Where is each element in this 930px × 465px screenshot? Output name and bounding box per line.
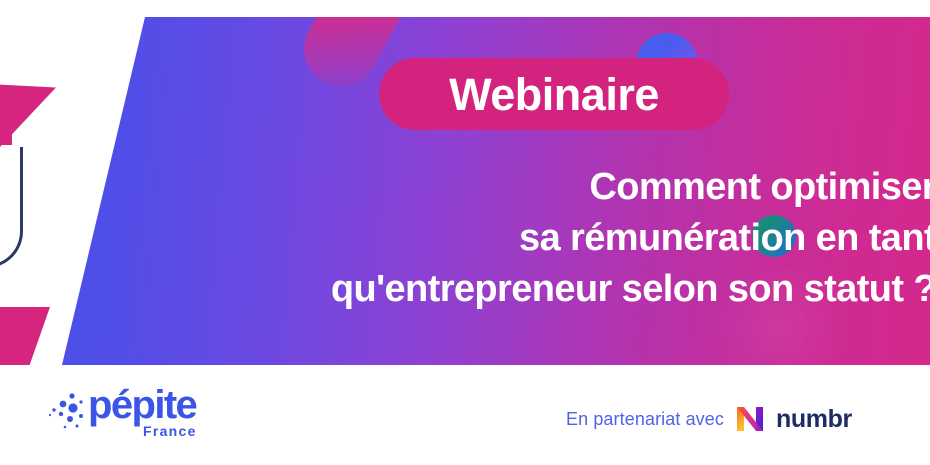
headline: Comment optimiser sa rémunération en tan… <box>60 168 930 308</box>
numbr-n-icon <box>734 403 766 435</box>
pepite-france-logo: pépite France <box>48 387 268 449</box>
character-face-outline <box>0 147 23 268</box>
pepite-subtitle: France <box>143 424 197 438</box>
headline-line-1: Comment optimiser <box>60 168 930 206</box>
numbr-wordmark: numbr <box>776 407 852 432</box>
webinaire-badge-label: Webinaire <box>449 72 659 117</box>
headline-line-3: qu'entrepreneur selon son statut ? <box>60 270 930 308</box>
banner-footer: pépite France En partenariat avec <box>0 365 930 465</box>
pepite-wordmark: pépite <box>88 385 196 425</box>
webinaire-badge: Webinaire <box>379 58 729 130</box>
character-hair-shape <box>0 83 56 166</box>
webinar-banner: Webinaire Comment optimiser sa rémunérat… <box>0 0 930 465</box>
partnership-block: En partenariat avec <box>566 399 852 439</box>
headline-line-2: sa rémunération en tant <box>60 219 930 257</box>
partnership-label: En partenariat avec <box>566 409 724 430</box>
